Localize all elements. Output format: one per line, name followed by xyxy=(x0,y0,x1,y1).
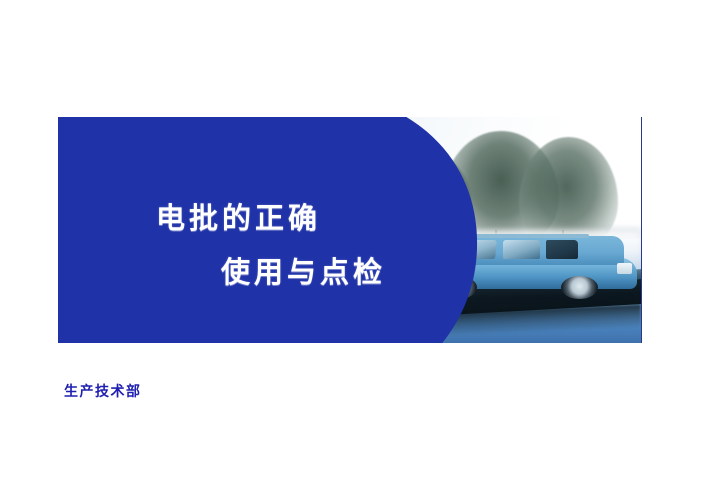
department-label: 生产技术部 xyxy=(64,381,142,401)
title-banner: 电批的正确 使用与点检 xyxy=(58,117,642,343)
blue-curve-shape xyxy=(58,117,641,343)
slide-canvas: 电批的正确 使用与点检 生产技术部 xyxy=(0,0,702,496)
